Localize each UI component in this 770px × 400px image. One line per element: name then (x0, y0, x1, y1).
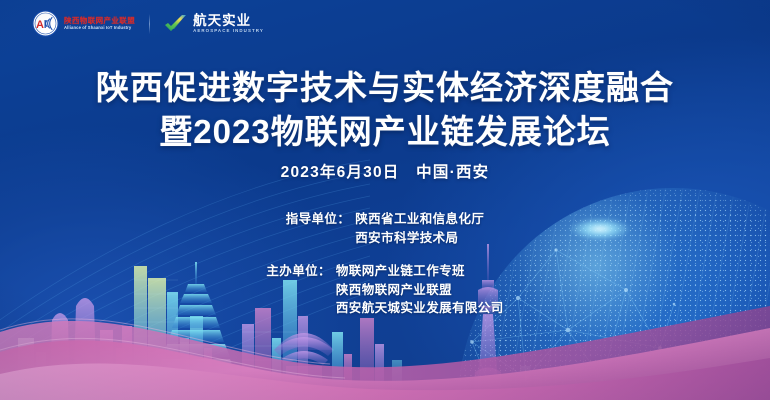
credit-value: 西安市科学技术局 (355, 229, 484, 248)
forum-banner: A 陕西物联网产业联盟 Alliance of Shaanxi IoT Indu… (0, 0, 770, 400)
alliance-logo: A 陕西物联网产业联盟 Alliance of Shaanxi IoT Indu… (32, 10, 135, 37)
aerospace-checkmark-icon (164, 14, 187, 33)
title-line-2: 暨2023物联网产业链发展论坛 (0, 112, 770, 152)
svg-text:A: A (36, 19, 44, 31)
aerospace-logo-text: 航天实业 AEROSPACE INDUSTRY (193, 14, 264, 34)
alliance-logo-text: 陕西物联网产业联盟 Alliance of Shaanxi IoT Indust… (64, 17, 135, 30)
asi-wave-logo-icon: A (32, 10, 59, 37)
event-date-location: 2023年6月30日 中国·西安 (0, 160, 770, 182)
skyline-right-cluster (332, 318, 542, 400)
credits-block: 指导单位： 陕西省工业和信息化厅 西安市科学技术局 主办单位： 物联网产业链工作… (0, 210, 770, 318)
title-line-1: 陕西促进数字技术与实体经济深度融合 (0, 68, 770, 108)
logo-bar: A 陕西物联网产业联盟 Alliance of Shaanxi IoT Indu… (32, 10, 264, 37)
alliance-name-en: Alliance of Shaanxi IoT Industry (64, 26, 135, 30)
aerospace-name-en: AEROSPACE INDUSTRY (193, 29, 264, 33)
credit-value: 物联网产业链工作专班 (336, 262, 504, 281)
traditional-pavilion (274, 333, 334, 400)
credit-value: 陕西省工业和信息化厅 (355, 210, 484, 229)
banner-title: 陕西促进数字技术与实体经济深度融合 暨2023物联网产业链发展论坛 (0, 68, 770, 153)
credit-row-guidance: 指导单位： 陕西省工业和信息化厅 西安市科学技术局 (286, 210, 485, 247)
aerospace-name-cn: 航天实业 (193, 14, 264, 28)
credit-values-host: 物联网产业链工作专班 陕西物联网产业联盟 西安航天城实业发展有限公司 (336, 262, 504, 318)
credit-label-host: 主办单位： (266, 262, 331, 281)
aerospace-logo: 航天实业 AEROSPACE INDUSTRY (164, 14, 264, 34)
credit-label-guidance: 指导单位： (286, 210, 351, 229)
credit-value: 陕西物联网产业联盟 (336, 281, 504, 300)
credit-values-guidance: 陕西省工业和信息化厅 西安市科学技术局 (355, 210, 484, 247)
alliance-name-cn: 陕西物联网产业联盟 (64, 17, 135, 25)
logo-divider (149, 14, 150, 34)
vignette-overlay (0, 0, 770, 400)
credit-row-host: 主办单位： 物联网产业链工作专班 陕西物联网产业联盟 西安航天城实业发展有限公司 (266, 262, 503, 318)
credit-value: 西安航天城实业发展有限公司 (336, 299, 504, 318)
